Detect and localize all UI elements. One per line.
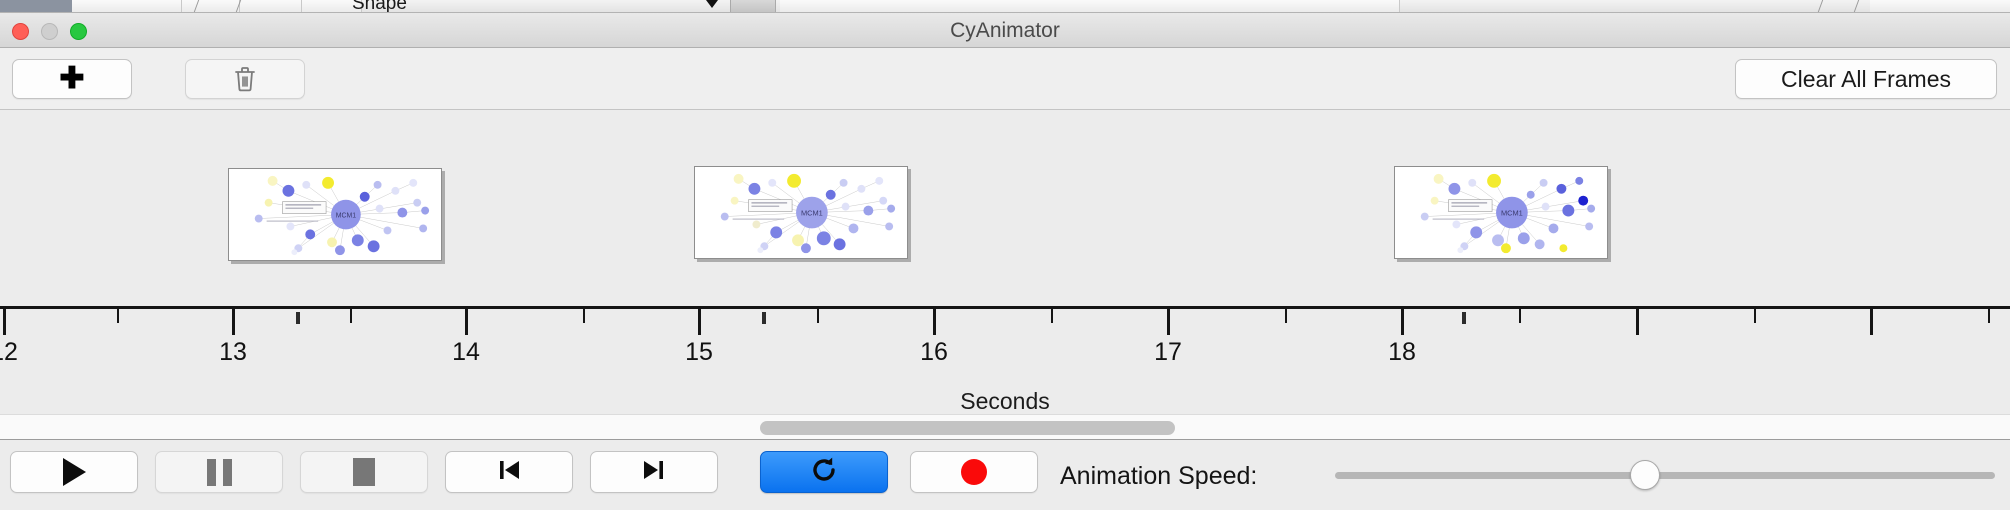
background-window-divider <box>1854 0 1859 12</box>
skip-forward-icon <box>639 455 669 490</box>
svg-text:MCM1: MCM1 <box>1501 209 1523 218</box>
background-window-label: Shape <box>352 0 407 13</box>
background-window-cell <box>72 0 182 12</box>
axis-tick-label: 12 <box>0 338 18 367</box>
title-bar: CyAnimator <box>0 13 2010 48</box>
background-window[interactable]: Shape <box>0 0 2010 13</box>
background-window-swatch <box>0 0 72 12</box>
axis-tick-minor <box>350 309 352 323</box>
add-frame-button[interactable]: ✚ <box>12 59 132 99</box>
axis-tick-label: 17 <box>1154 338 1182 367</box>
axis-tick-major <box>698 309 701 335</box>
background-window-tab[interactable] <box>730 0 776 12</box>
delete-frame-button[interactable] <box>185 59 305 99</box>
next-frame-button[interactable] <box>590 451 718 493</box>
frame-thumbnail-1[interactable]: MCM1 <box>228 168 442 261</box>
background-window-cell <box>780 0 1400 12</box>
axis-tick-label: 16 <box>920 338 948 367</box>
window-title: CyAnimator <box>0 13 2010 48</box>
axis-tick-major <box>232 309 235 335</box>
axis-tick-label: 18 <box>1388 338 1416 367</box>
record-button[interactable] <box>910 451 1038 493</box>
trash-icon <box>233 65 257 93</box>
frame-thumbnail-2[interactable]: MCM1 <box>694 166 908 259</box>
axis-tick-minor <box>1754 309 1756 323</box>
clear-all-frames-label: Clear All Frames <box>1781 66 1951 93</box>
timeline-panel[interactable]: MCM1 <box>0 110 2010 414</box>
skip-back-icon <box>494 455 524 490</box>
axis-tick-minor <box>1519 309 1521 323</box>
axis-tick-minor <box>1051 309 1053 323</box>
axis-caption: Seconds <box>0 388 2010 414</box>
frame-marker-2 <box>762 312 766 324</box>
axis-tick-minor <box>583 309 585 323</box>
plus-icon: ✚ <box>59 64 84 94</box>
axis-tick-major <box>465 309 468 335</box>
scrollbar-thumb[interactable] <box>760 421 1175 435</box>
frame-marker-3 <box>1462 312 1466 324</box>
svg-text:MCM1: MCM1 <box>801 209 823 218</box>
animation-speed-label: Animation Speed: <box>1060 462 1257 491</box>
axis-tick-major <box>3 309 6 335</box>
slider-thumb[interactable] <box>1630 460 1660 490</box>
axis-tick-minor <box>1988 309 1990 323</box>
background-window-cell <box>240 0 302 12</box>
loop-button[interactable] <box>760 451 888 493</box>
axis-tick-major <box>1636 309 1639 335</box>
svg-text:MCM1: MCM1 <box>336 213 357 220</box>
loop-icon <box>808 454 840 491</box>
toolbar: ✚ Clear All Frames <box>0 48 2010 110</box>
axis-tick-label: 13 <box>219 338 247 367</box>
clear-all-frames-button[interactable]: Clear All Frames <box>1735 59 1997 99</box>
axis-tick-major <box>1870 309 1873 335</box>
background-window-caret-icon <box>706 0 718 8</box>
background-window-cell <box>182 0 240 12</box>
network-graph-preview: MCM1 <box>695 167 907 259</box>
prev-frame-button[interactable] <box>445 451 573 493</box>
axis-tick-label: 15 <box>685 338 713 367</box>
network-graph-preview: MCM1 <box>1395 167 1607 259</box>
animation-speed-slider[interactable] <box>1335 472 1995 479</box>
transport-bar: Animation Speed: <box>0 441 2010 510</box>
pause-button[interactable] <box>155 451 283 493</box>
pause-icon <box>207 459 232 486</box>
play-button[interactable] <box>10 451 138 493</box>
frame-marker-1 <box>296 312 300 324</box>
network-graph-preview: MCM1 <box>229 169 441 261</box>
stop-button[interactable] <box>300 451 428 493</box>
background-window-divider <box>1818 0 1823 12</box>
background-window-cell <box>1870 0 2010 12</box>
slider-track <box>1335 472 1995 479</box>
axis-tick-major <box>1401 309 1404 335</box>
frame-thumbnail-3[interactable]: MCM1 <box>1394 166 1608 259</box>
axis-tick-major <box>1167 309 1170 335</box>
axis-tick-major <box>933 309 936 335</box>
axis-tick-minor <box>1285 309 1287 323</box>
axis-tick-minor <box>817 309 819 323</box>
play-icon <box>63 458 86 486</box>
timeline-axis <box>0 306 2010 309</box>
horizontal-scrollbar[interactable] <box>0 414 2010 440</box>
axis-tick-minor <box>117 309 119 323</box>
stop-icon <box>353 458 375 486</box>
record-icon <box>961 459 987 485</box>
axis-tick-label: 14 <box>452 338 480 367</box>
